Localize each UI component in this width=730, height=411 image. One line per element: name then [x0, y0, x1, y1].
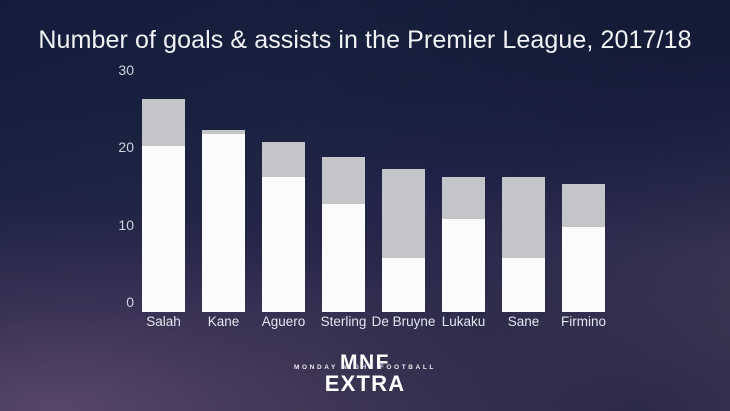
x-axis-label-kane: Kane: [208, 314, 240, 329]
x-axis-label-lukaku: Lukaku: [442, 314, 486, 329]
bar-segment-assists: [502, 177, 545, 258]
x-axis-label-firmino: Firmino: [561, 314, 606, 329]
bar-segment-assists: [262, 142, 305, 177]
bar-segment-goals: [322, 204, 365, 312]
bar-segment-goals: [382, 258, 425, 312]
mnf-extra-logo: MNF MONDAY NIGHT FOOTBALL EXTRA: [0, 352, 730, 395]
logo-line-extra: EXTRA: [0, 373, 730, 395]
bar-segment-assists: [562, 184, 605, 227]
y-axis-tick-30: 30: [118, 62, 134, 78]
bar-sterling[interactable]: [322, 157, 365, 312]
bar-segment-assists: [142, 99, 185, 145]
bar-kane[interactable]: [202, 130, 245, 312]
y-axis-tick-20: 20: [118, 139, 134, 155]
bar-segment-goals: [562, 227, 605, 312]
bar-sane[interactable]: [502, 177, 545, 312]
bar-firmino[interactable]: [562, 184, 605, 312]
bar-group: [138, 80, 628, 312]
bar-segment-goals: [262, 177, 305, 312]
bar-de-bruyne[interactable]: [382, 169, 425, 312]
bar-segment-goals: [442, 219, 485, 312]
y-axis-tick-0: 0: [126, 294, 134, 310]
bar-segment-assists: [322, 157, 365, 203]
bar-lukaku[interactable]: [442, 177, 485, 312]
bar-segment-goals: [142, 146, 185, 312]
chart-title: Number of goals & assists in the Premier…: [0, 26, 730, 55]
x-axis-label-de-bruyne: De Bruyne: [372, 314, 436, 329]
bar-segment-goals: [502, 258, 545, 312]
y-axis-tick-10: 10: [118, 217, 134, 233]
x-axis-labels: SalahKaneAgueroSterlingDe BruyneLukakuSa…: [130, 314, 636, 336]
bar-salah[interactable]: [142, 99, 185, 312]
y-axis: 0102030: [100, 70, 134, 322]
x-axis-label-sterling: Sterling: [321, 314, 367, 329]
bar-segment-goals: [202, 134, 245, 312]
x-axis-label-aguero: Aguero: [262, 314, 306, 329]
bar-segment-assists: [382, 169, 425, 258]
x-axis-label-sane: Sane: [508, 314, 540, 329]
x-axis-label-salah: Salah: [146, 314, 181, 329]
bar-segment-assists: [442, 177, 485, 220]
slide-canvas: Number of goals & assists in the Premier…: [0, 0, 730, 411]
bar-aguero[interactable]: [262, 142, 305, 312]
